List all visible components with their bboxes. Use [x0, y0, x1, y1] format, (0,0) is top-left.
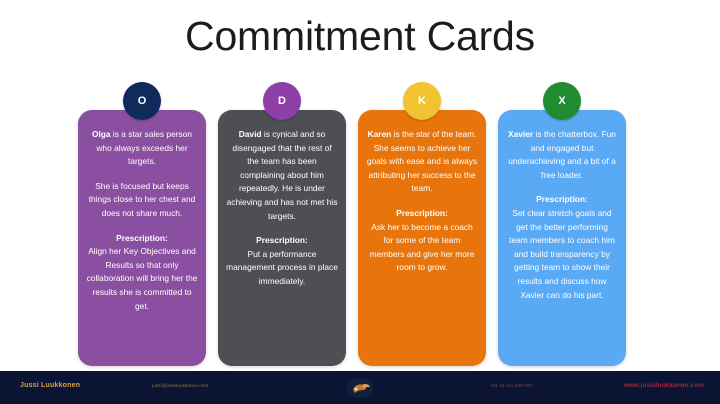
commitment-card-xavier[interactable]: X Xavier is the chatterbox. Fun and enga…: [498, 110, 626, 366]
person-name: Karen: [368, 129, 392, 139]
prescription-label: Prescription:: [366, 207, 478, 221]
person-name: David: [239, 129, 262, 139]
card-prescription: Prescription:Set clear stretch goals and…: [506, 193, 618, 302]
card-paragraph: She is focused but keeps things close to…: [86, 180, 198, 221]
card-badge-olga: O: [123, 82, 161, 120]
card-paragraph: Karen is the star of the team. She seems…: [366, 128, 478, 196]
card-badge-david: D: [263, 82, 301, 120]
commitment-card-karen[interactable]: K Karen is the star of the team. She see…: [358, 110, 486, 366]
card-badge-karen: K: [403, 82, 441, 120]
footer-phone: +61 41 111 999 000: [490, 383, 532, 388]
card-paragraph: David is cynical and so disengaged that …: [226, 128, 338, 223]
card-paragraph: Xavier is the chatterbox. Fun and engage…: [506, 128, 618, 182]
footer-website-url[interactable]: www.jussiluukkonen.com: [624, 382, 704, 389]
prescription-text: Set clear stretch goals and get the bett…: [509, 208, 615, 300]
footer-bar: Jussi Luukkonen jussi@jussiluukkonen.com…: [0, 371, 720, 404]
commitment-card-david[interactable]: D David is cynical and so disengaged tha…: [218, 110, 346, 366]
person-name: Olga: [92, 129, 111, 139]
footer-author-name: Jussi Luukkonen: [20, 382, 80, 389]
card-body-david: David is cynical and so disengaged that …: [226, 128, 338, 289]
card-body-xavier: Xavier is the chatterbox. Fun and engage…: [506, 128, 618, 302]
card-body-olga: Olga is a star sales person who always e…: [86, 128, 198, 313]
card-paragraph: Olga is a star sales person who always e…: [86, 128, 198, 169]
brand-mark-icon: [345, 377, 375, 399]
slide: Commitment Cards O Olga is a star sales …: [0, 0, 720, 404]
commitment-card-olga[interactable]: O Olga is a star sales person who always…: [78, 110, 206, 366]
prescription-label: Prescription:: [226, 234, 338, 248]
person-name: Xavier: [508, 129, 533, 139]
prescription-label: Prescription:: [86, 232, 198, 246]
prescription-text: Align her Key Objectives and Results so …: [87, 246, 198, 310]
prescription-text: Put a performance management process in …: [226, 249, 338, 286]
prescription-label: Prescription:: [506, 193, 618, 207]
footer-email[interactable]: jussi@jussiluukkonen.com: [152, 383, 208, 388]
prescription-text: Ask her to become a coach for some of th…: [370, 222, 475, 273]
paragraph-text: is a star sales person who always exceed…: [96, 129, 192, 166]
card-badge-xavier: X: [543, 82, 581, 120]
card-body-karen: Karen is the star of the team. She seems…: [366, 128, 478, 275]
paragraph-text: is cynical and so disengaged that the re…: [227, 129, 338, 221]
card-prescription: Prescription:Ask her to become a coach f…: [366, 207, 478, 275]
card-prescription: Prescription:Put a performance managemen…: [226, 234, 338, 288]
card-prescription: Prescription:Align her Key Objectives an…: [86, 232, 198, 314]
paragraph-text: She is focused but keeps things close to…: [89, 181, 196, 218]
page-title: Commitment Cards: [0, 14, 720, 59]
commitment-cards-row: O Olga is a star sales person who always…: [78, 110, 626, 366]
